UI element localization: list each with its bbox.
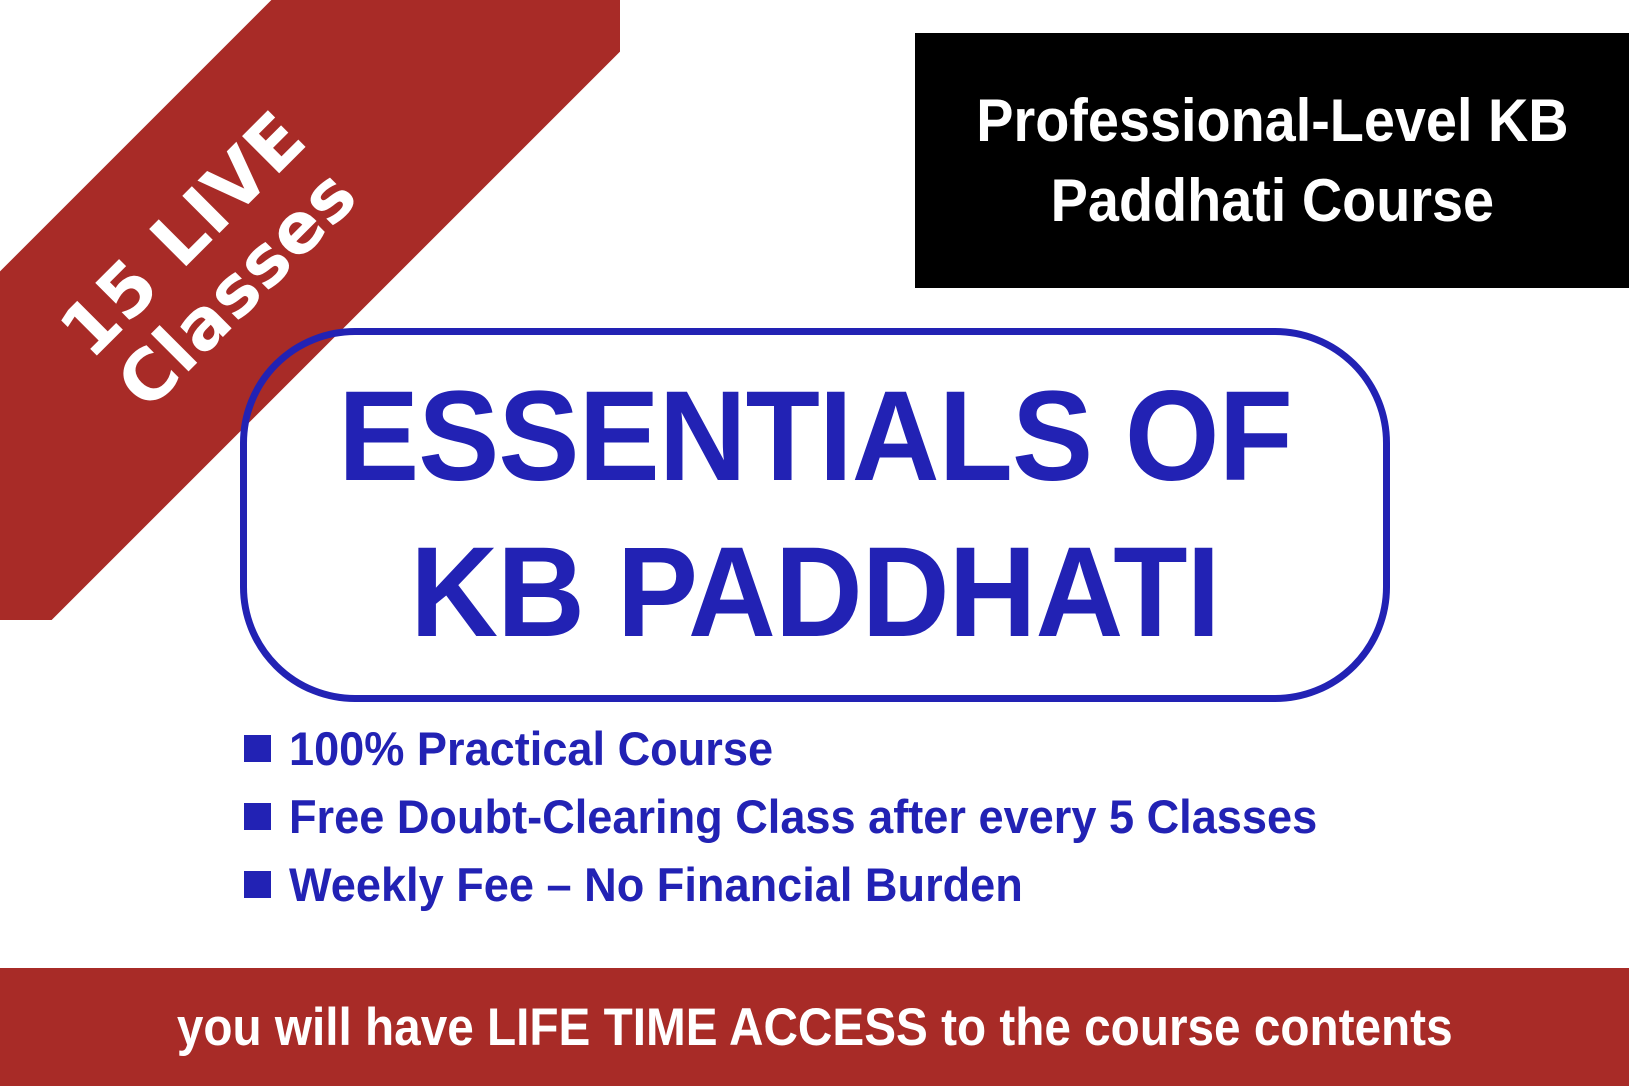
lifetime-access-text: you will have LIFE TIME ACCESS to the co…	[177, 1001, 1453, 1054]
list-item: 100% Practical Course	[244, 716, 1564, 781]
feature-label: Free Doubt-Clearing Class after every 5 …	[289, 793, 1317, 840]
square-bullet-icon	[244, 735, 271, 762]
list-item: Weekly Fee – No Financial Burden	[244, 852, 1564, 917]
course-title-line-1: ESSENTIALS OF	[338, 359, 1292, 515]
course-title-box: ESSENTIALS OF KB PADDHATI	[240, 328, 1390, 702]
list-item: Free Doubt-Clearing Class after every 5 …	[244, 784, 1564, 849]
square-bullet-icon	[244, 871, 271, 898]
lifetime-access-banner: you will have LIFE TIME ACCESS to the co…	[0, 968, 1629, 1086]
course-type-line-2: Paddhati Course	[1050, 161, 1493, 240]
ribbon-line-1: 15 LIVE	[46, 98, 320, 372]
course-promo-banner: 15 LIVE Classes Professional-Level KB Pa…	[0, 0, 1629, 1086]
feature-list: 100% Practical Course Free Doubt-Clearin…	[244, 716, 1564, 920]
course-title-line-2: KB PADDHATI	[410, 515, 1219, 671]
course-type-line-1: Professional-Level KB	[976, 81, 1568, 160]
square-bullet-icon	[244, 803, 271, 830]
course-type-badge: Professional-Level KB Paddhati Course	[915, 33, 1629, 288]
feature-label: 100% Practical Course	[289, 725, 773, 772]
feature-label: Weekly Fee – No Financial Burden	[289, 861, 1023, 908]
